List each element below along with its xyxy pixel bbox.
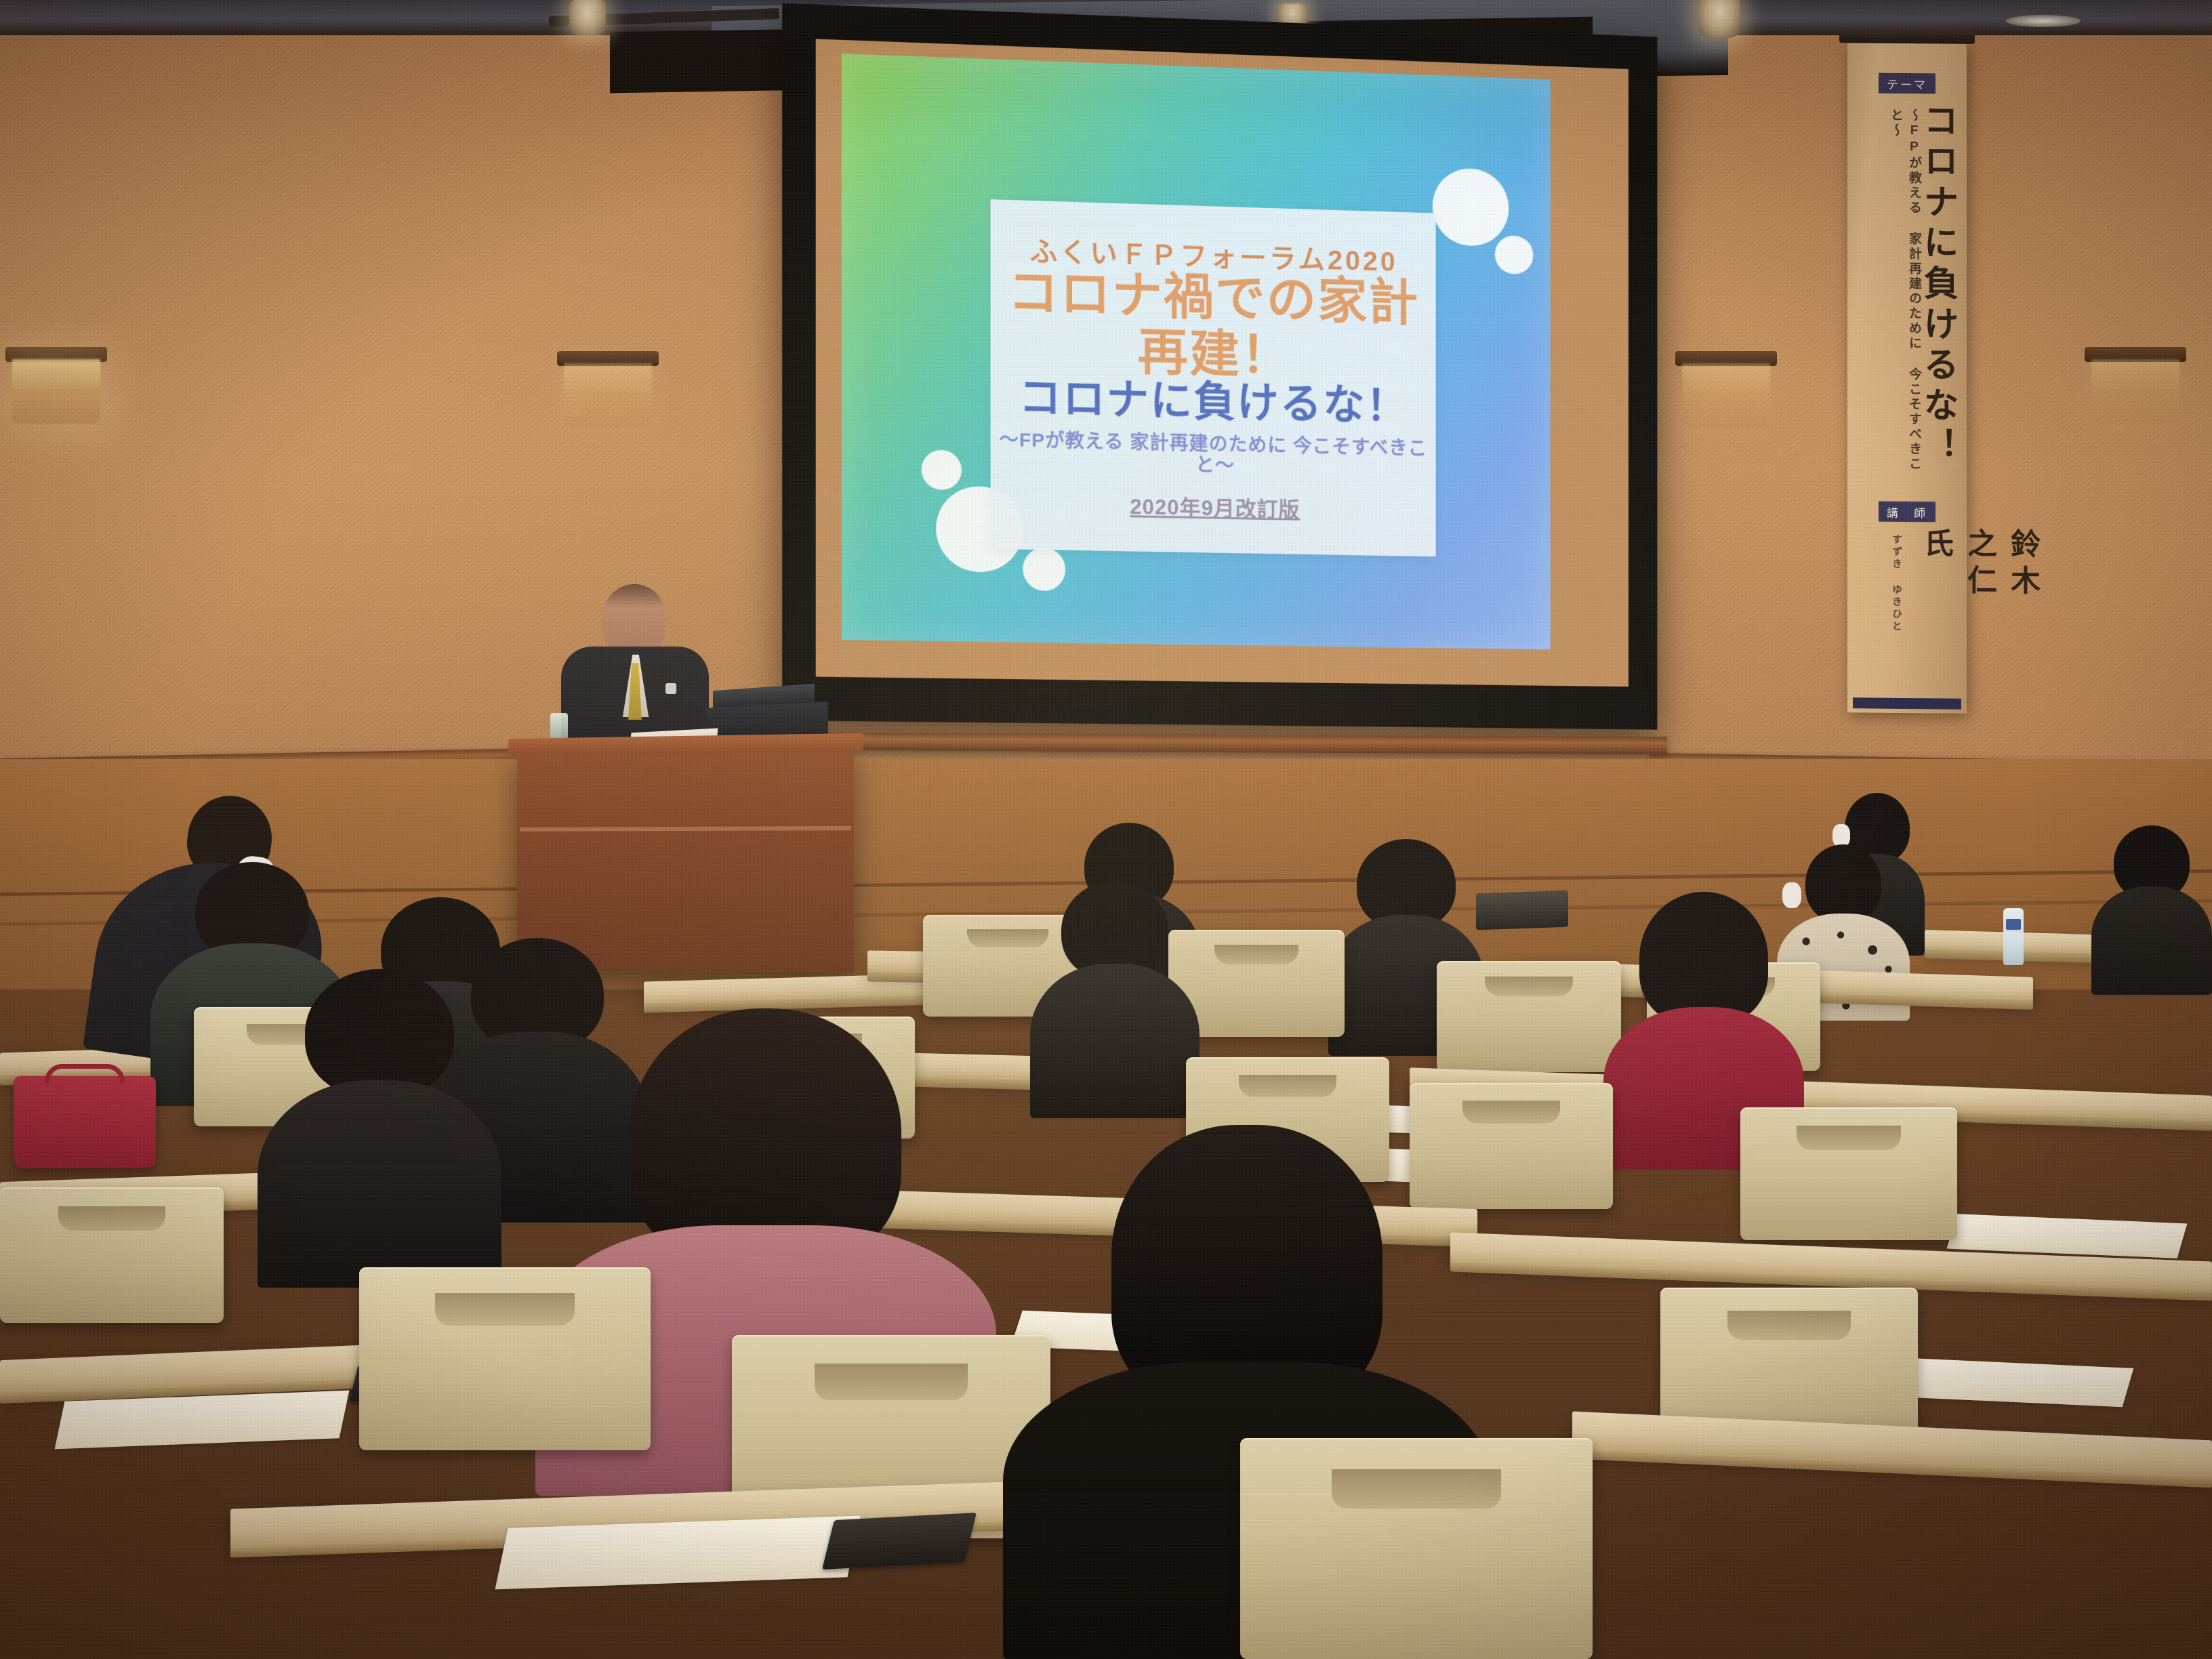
slide-bubble-icon [1433,167,1509,247]
projector-unit [1476,890,1568,930]
seminar-room-photo: ふくいＦＰフォーラム2020 コロナ禍での家計再建！ コロナに負けるな！ ～FP… [0,0,2212,1659]
banner-speaker-name: 鈴木 之仁 氏 [1914,527,2044,678]
banner-foot-bar [1853,697,1961,709]
handout-paper [495,1516,860,1590]
chair [1437,961,1621,1072]
slide-content-card: ふくいＦＰフォーラム2020 コロナ禍での家計再建！ コロナに負けるな！ ～FP… [990,199,1436,556]
banner-sub-text: ～FPが教える 家計再建のために 今こそすべきこと～ [1887,108,1923,474]
wall-sconce-light [1675,351,1777,432]
head [305,969,454,1098]
attendee-left-4 [258,969,501,1288]
head [1639,892,1768,1025]
banner-theme-tag: テーマ [1879,73,1935,94]
ceiling-spot-glow [2006,15,2081,27]
chair [1740,1107,1957,1240]
face-mask-icon [1832,824,1850,847]
red-backpack [14,1076,156,1168]
attendee-center-3 [1030,881,1200,1118]
projected-slide: ふくいＦＰフォーラム2020 コロナ禍での家計再建！ コロナに負けるな！ ～FP… [842,54,1551,650]
wall-sconce-light [5,347,107,428]
vertical-banner: テーマ コロナに負けるな！ ～FPが教える 家計再建のために 今こそすべきこと～… [1847,43,1967,714]
torso [1030,964,1200,1118]
slide-bubble-icon [922,450,962,490]
wall-sconce-light [557,351,659,432]
slide-bubble-icon [1023,548,1065,591]
backpack-strap [45,1064,125,1083]
head [1805,844,1881,923]
sconce-glass [2091,359,2179,424]
presenter-badge [665,683,676,694]
torso [258,1080,501,1288]
banner-rod [1839,29,1975,44]
projection-screen: ふくいＦＰフォーラム2020 コロナ禍での家計再建！ コロナに負けるな！ ～FP… [782,3,1657,730]
podium-lip [520,826,851,832]
track-light-icon [569,0,606,35]
slide-subtitle: ～FPが教える 家計再建のために 今こそすべきこと～ [990,428,1436,480]
screen-border: ふくいＦＰフォーラム2020 コロナ禍での家計再建！ コロナに負けるな！ ～FP… [816,39,1629,687]
banner-speaker-kana: すずき ゆきひと [1889,534,1904,670]
slide-headline: コロナに負けるな！ [990,374,1436,432]
torso [2091,886,2212,995]
slide-revision-note: 2020年9月改訂版 [990,493,1436,525]
chair [0,1187,224,1323]
chair [1240,1438,1593,1659]
banner-speaker-tag: 講 師 [1879,501,1935,523]
sconce-glass [12,359,100,424]
slide-bubble-icon [1495,235,1533,275]
phone-or-wallet [822,1513,977,1570]
track-light-icon [1698,0,1740,38]
chair [359,1267,651,1450]
attendee-right-2 [2091,825,2212,995]
sconce-glass [1682,363,1770,428]
sconce-glass [564,363,652,428]
water-bottle [2003,908,2024,965]
slide-title: コロナ禍での家計再建！ [990,264,1436,388]
wall-sconce-light [2085,347,2186,428]
